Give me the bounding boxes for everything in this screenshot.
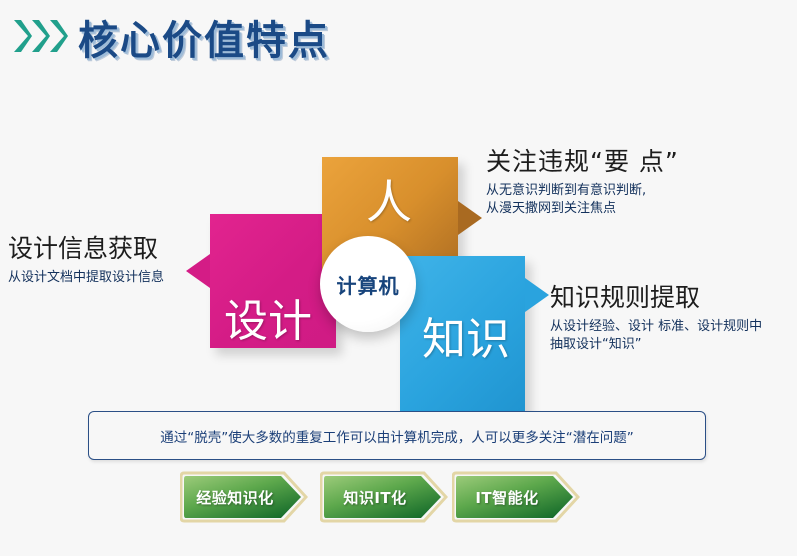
process-steps: 经验知识化 知识IT化	[0, 470, 797, 528]
caption-violation-focus: 关注违规“要 点” 从无意识判断到有意识判断, 从漫天撒网到关注焦点	[486, 148, 679, 219]
summary-callout-text: 通过“脱壳”使大多数的重复工作可以由计算机完成，人可以更多关注“潜在问题”	[160, 426, 633, 446]
slide-canvas: 核心价值特点 设计 人 知识 计算机 设计信息获取 从设计文档中提取设计信息	[0, 0, 797, 556]
arrow-shape-icon	[452, 470, 580, 524]
core-value-diagram: 设计 人 知识 计算机 设计信息获取 从设计文档中提取设计信息 关注违规“要 点…	[0, 62, 797, 392]
caption-knowledge-rules-sub: 从设计经验、设计 标准、设计规则中 抽取设计“知识”	[550, 318, 762, 356]
arrow-shape-icon	[320, 470, 448, 524]
diagram-block-knowledge-label: 知识	[422, 318, 510, 362]
caption-violation-focus-sub-line1: 从无意识判断到有意识判断,	[486, 182, 679, 201]
process-step-0[interactable]: 经验知识化	[180, 470, 308, 524]
caption-violation-focus-title: 关注违规“要 点”	[486, 148, 679, 176]
process-step-1[interactable]: 知识IT化	[320, 470, 448, 524]
slide-header: 核心价值特点	[0, 0, 797, 62]
arrow-notch-right-icon	[525, 278, 549, 312]
caption-design-info: 设计信息获取 从设计文档中提取设计信息	[8, 235, 164, 287]
diagram-block-design[interactable]: 设计	[210, 214, 336, 348]
diagram-block-people-label: 人	[366, 179, 412, 225]
process-step-2[interactable]: IT智能化	[452, 470, 580, 524]
caption-design-info-title: 设计信息获取	[8, 235, 164, 263]
summary-callout-box: 通过“脱壳”使大多数的重复工作可以由计算机完成，人可以更多关注“潜在问题”	[88, 411, 706, 460]
arrow-notch-right-icon	[458, 201, 482, 235]
caption-knowledge-rules-title: 知识规则提取	[550, 284, 762, 312]
caption-design-info-sub: 从设计文档中提取设计信息	[8, 269, 164, 288]
diagram-block-design-label: 设计	[224, 300, 312, 344]
page-title: 核心价值特点	[78, 8, 330, 66]
caption-knowledge-rules-sub-line1: 从设计经验、设计 标准、设计规则中	[550, 318, 762, 337]
arrow-shape-icon	[180, 470, 308, 524]
caption-knowledge-rules-sub-line2: 抽取设计“知识”	[550, 336, 762, 355]
double-chevron-right-icon	[12, 18, 74, 54]
caption-violation-focus-sub: 从无意识判断到有意识判断, 从漫天撒网到关注焦点	[486, 182, 679, 220]
caption-violation-focus-sub-line2: 从漫天撒网到关注焦点	[486, 200, 679, 219]
caption-knowledge-rules: 知识规则提取 从设计经验、设计 标准、设计规则中 抽取设计“知识”	[550, 284, 762, 355]
diagram-core-label: 计算机	[337, 270, 400, 299]
diagram-block-knowledge[interactable]: 知识	[400, 256, 525, 422]
arrow-notch-left-icon	[186, 254, 210, 288]
diagram-core-circle[interactable]: 计算机	[320, 236, 416, 332]
